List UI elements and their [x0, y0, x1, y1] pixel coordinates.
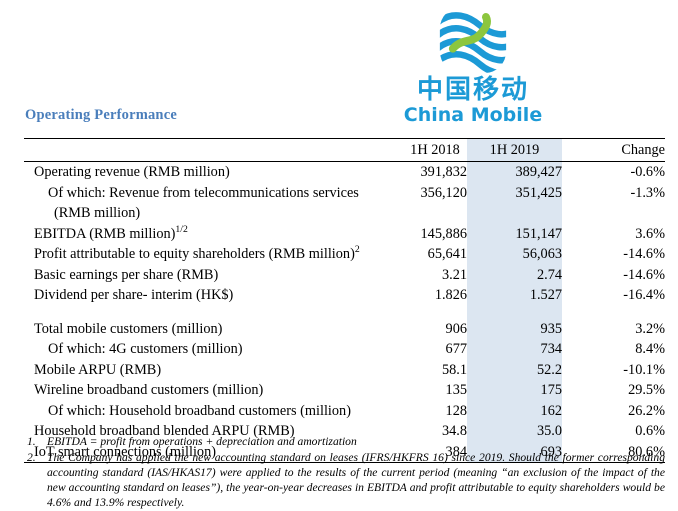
row-label: Wireline broadband customers (million): [24, 380, 403, 401]
row-value-change: -10.1%: [562, 360, 665, 381]
table-spacer-row: [24, 306, 665, 319]
row-label: Household broadband blended ARPU (RMB): [24, 421, 403, 442]
row-value-prev-period: 906: [403, 319, 467, 340]
row-value-current-period: 1.527: [467, 285, 562, 306]
row-value-prev-period: 384: [403, 442, 467, 463]
table-row: Operating revenue (RMB million)391,83238…: [24, 162, 665, 183]
row-value-current-period: 52.2: [467, 360, 562, 381]
row-value-current-period: 351,425: [467, 183, 562, 204]
row-value-current-period: 175: [467, 380, 562, 401]
row-label: Of which: Household broadband customers …: [24, 401, 403, 422]
row-value-change: 8.4%: [562, 339, 665, 360]
table-row: EBITDA (RMB million)1/2145,886151,1473.6…: [24, 224, 665, 245]
table-row: Basic earnings per share (RMB)3.212.74-1…: [24, 265, 665, 286]
row-value-current-period: 162: [467, 401, 562, 422]
table-header-row: 1H 20181H 2019Change: [24, 139, 665, 162]
row-value-change: 3.6%: [562, 224, 665, 245]
table-row: Of which: Revenue from telecommunication…: [24, 183, 665, 204]
row-label: Mobile ARPU (RMB): [24, 360, 403, 381]
china-mobile-logo-mark: [437, 4, 509, 76]
row-value-prev-period: 128: [403, 401, 467, 422]
section-title: Operating Performance: [25, 107, 177, 124]
row-label: Dividend per share- interim (HK$): [24, 285, 403, 306]
row-value-prev-period: 34.8: [403, 421, 467, 442]
row-value-change: 26.2%: [562, 401, 665, 422]
row-value-prev-period: 65,641: [403, 244, 467, 265]
table-rule-bottom: [24, 463, 665, 464]
table-row: IoT smart connections (million)38469380.…: [24, 442, 665, 463]
row-label: Operating revenue (RMB million): [24, 162, 403, 183]
table-row: Of which: Household broadband customers …: [24, 401, 665, 422]
table-row: Wireline broadband customers (million)13…: [24, 380, 665, 401]
row-label: (RMB million): [24, 203, 403, 224]
row-value-current-period: 693: [467, 442, 562, 463]
header-cell-label: [24, 139, 403, 162]
row-value-change: 29.5%: [562, 380, 665, 401]
row-label: Of which: Revenue from telecommunication…: [24, 183, 403, 204]
header-cell-current-period: 1H 2019: [467, 139, 562, 162]
header-cell-prev-period: 1H 2018: [403, 139, 467, 162]
table-row: Of which: 4G customers (million)6777348.…: [24, 339, 665, 360]
footnote-marker: 2: [355, 244, 360, 255]
row-label: Of which: 4G customers (million): [24, 339, 403, 360]
logo-english-name: China Mobile: [398, 105, 548, 126]
table-row: Profit attributable to equity shareholde…: [24, 244, 665, 265]
row-value-current-period: 389,427: [467, 162, 562, 183]
row-value-prev-period: 135: [403, 380, 467, 401]
table-row: (RMB million): [24, 203, 665, 224]
brand-logo-block: 中国移动 China Mobile: [398, 4, 548, 126]
table-row: Dividend per share- interim (HK$)1.8261.…: [24, 285, 665, 306]
footnote-marker: 1/2: [175, 224, 187, 235]
row-value-change: -14.6%: [562, 244, 665, 265]
row-label: Total mobile customers (million): [24, 319, 403, 340]
table-row: Mobile ARPU (RMB)58.152.2-10.1%: [24, 360, 665, 381]
row-value-change: [562, 203, 665, 224]
row-value-change: -1.3%: [562, 183, 665, 204]
row-label: Basic earnings per share (RMB): [24, 265, 403, 286]
row-value-prev-period: 677: [403, 339, 467, 360]
row-label: EBITDA (RMB million)1/2: [24, 224, 403, 245]
row-value-change: -14.6%: [562, 265, 665, 286]
row-label: IoT smart connections (million): [24, 442, 403, 463]
table-body: 1H 20181H 2019ChangeOperating revenue (R…: [24, 139, 665, 464]
row-value-prev-period: 58.1: [403, 360, 467, 381]
header-cell-change: Change: [562, 139, 665, 162]
row-value-change: -0.6%: [562, 162, 665, 183]
operating-performance-table: 1H 20181H 2019ChangeOperating revenue (R…: [24, 138, 665, 463]
row-value-current-period: 734: [467, 339, 562, 360]
table-row: Household broadband blended ARPU (RMB)34…: [24, 421, 665, 442]
row-value-change: 80.6%: [562, 442, 665, 463]
row-label: Profit attributable to equity shareholde…: [24, 244, 403, 265]
row-value-change: 0.6%: [562, 421, 665, 442]
row-value-current-period: [467, 203, 562, 224]
row-value-prev-period: 3.21: [403, 265, 467, 286]
row-value-current-period: 35.0: [467, 421, 562, 442]
row-value-current-period: 56,063: [467, 244, 562, 265]
row-value-prev-period: 391,832: [403, 162, 467, 183]
row-value-prev-period: 1.826: [403, 285, 467, 306]
row-value-current-period: 2.74: [467, 265, 562, 286]
logo-chinese-name: 中国移动: [398, 77, 548, 104]
row-value-prev-period: [403, 203, 467, 224]
row-value-prev-period: 356,120: [403, 183, 467, 204]
row-value-change: 3.2%: [562, 319, 665, 340]
table-row: Total mobile customers (million)9069353.…: [24, 319, 665, 340]
operating-performance-table-wrapper: 1H 20181H 2019ChangeOperating revenue (R…: [24, 138, 665, 463]
row-value-change: -16.4%: [562, 285, 665, 306]
row-value-prev-period: 145,886: [403, 224, 467, 245]
row-value-current-period: 151,147: [467, 224, 562, 245]
row-value-current-period: 935: [467, 319, 562, 340]
